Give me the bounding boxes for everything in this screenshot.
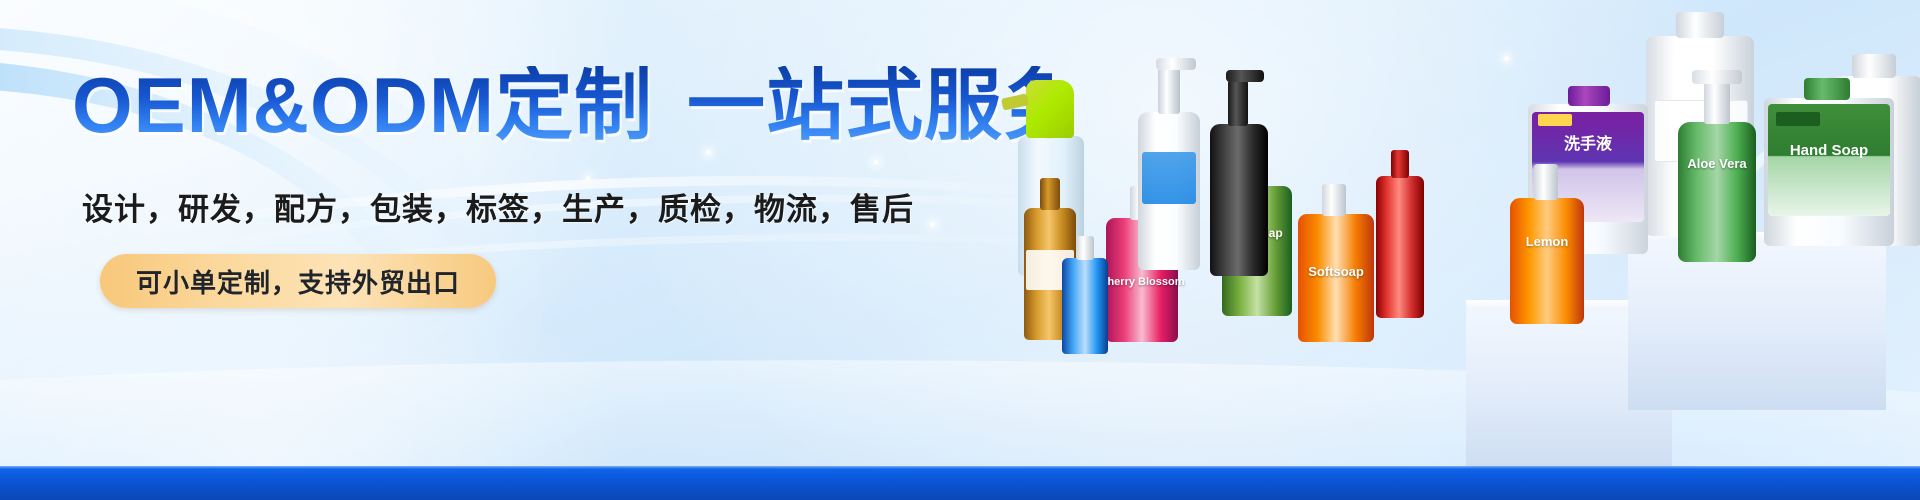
softsoap-orange-pump: Softsoap [1298,214,1374,342]
sparkle [706,150,711,155]
black-shampoo-pump-bottle [1210,124,1268,276]
headline-primary: OEM&ODM定制 [72,61,653,149]
status-badge: 可小单定制，支持外贸出口 [100,254,496,308]
green-handsoap-jerrycan: Hand Soap [1764,98,1894,246]
product-label-softsoap-orange: Softsoap [1308,264,1364,279]
page-title: OEM&ODM定制一站式服务 [72,66,1052,144]
service-list-subtitle: 设计，研发，配方，包装，标签，生产，质检，物流，售后 [82,184,914,229]
banner-copy: OEM&ODM定制一站式服务 设计，研发，配方，包装，标签，生产，质检，物流，售… [72,66,1052,144]
blue-sanitizer-bottle [1062,258,1108,354]
red-cleaner-bottle [1376,176,1424,318]
product-label-cherry: Cherry Blossom [1100,276,1185,288]
product-label-aloe: Aloe Vera [1687,156,1746,171]
katrina-lemon-handwash-orange: Lemon [1510,198,1584,324]
product-label-handsoap: Hand Soap [1790,142,1868,159]
pedestal-back [1628,232,1886,410]
white-lotion-pump-bottle [1138,112,1200,270]
promo-banner: OEM&ODM定制一站式服务 设计，研发，配方，包装，标签，生产，质检，物流，售… [0,0,1920,500]
product-label-purple-jug: 洗手液 [1564,130,1612,154]
product-label-lemon: Lemon [1526,234,1569,249]
sparkle [586,176,590,180]
katrina-aloe-vera-handwash-green: Aloe Vera [1678,122,1756,262]
sparkle [930,222,935,227]
bottom-accent-bar [0,466,1920,500]
sparkle [874,160,878,164]
product-photo-group: Hand Soap 洗手液 Aloe Vera Lemon Softsoap [1180,0,1920,470]
